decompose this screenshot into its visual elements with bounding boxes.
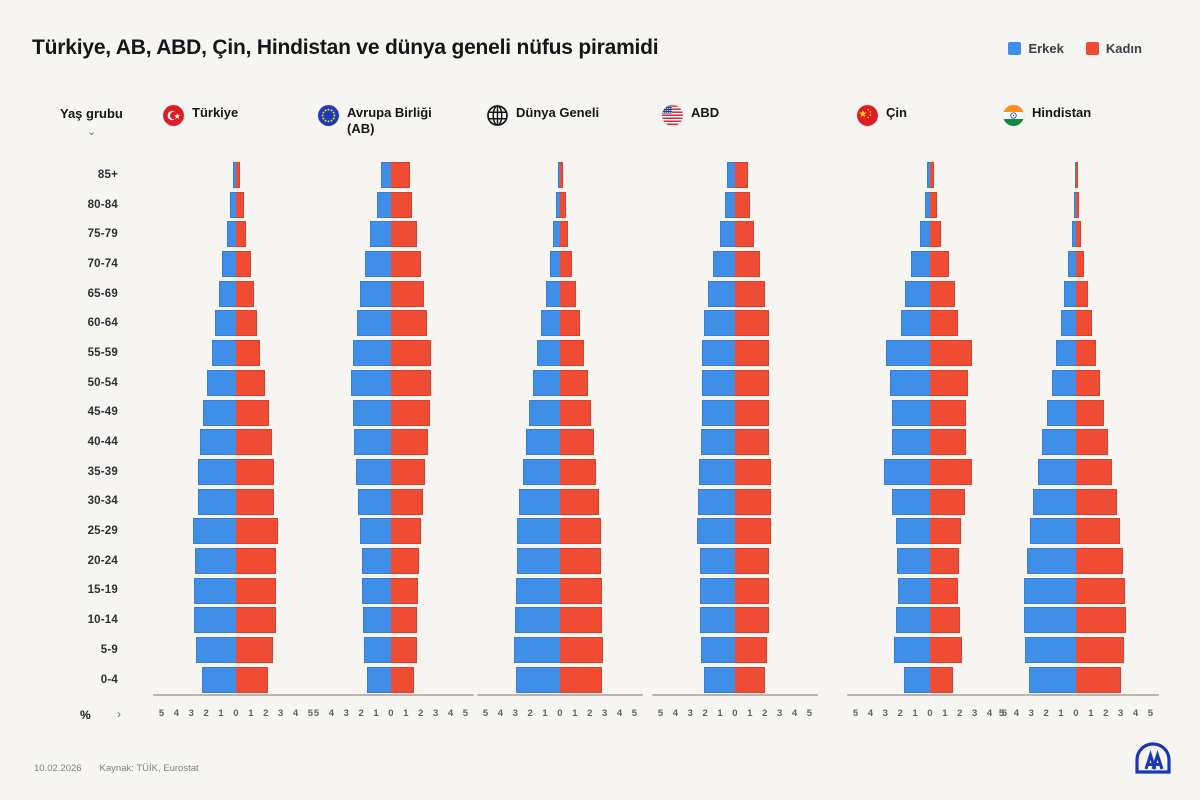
- bar-male[interactable]: [367, 667, 391, 693]
- pyramid-row[interactable]: [845, 368, 1015, 398]
- bar-female[interactable]: [236, 192, 244, 218]
- bar-female[interactable]: [560, 340, 584, 366]
- bar-male[interactable]: [516, 578, 560, 604]
- bar-female[interactable]: [560, 429, 594, 455]
- column-header-d-nya-geneli[interactable]: Dünya Geneli: [487, 105, 599, 126]
- bar-male[interactable]: [212, 340, 236, 366]
- bar-female[interactable]: [391, 310, 427, 336]
- bar-female[interactable]: [735, 578, 769, 604]
- pyramid-row[interactable]: [151, 457, 321, 487]
- bar-female[interactable]: [391, 251, 421, 277]
- bar-female[interactable]: [1076, 192, 1079, 218]
- bar-male[interactable]: [1030, 518, 1076, 544]
- bar-female[interactable]: [560, 162, 563, 188]
- pyramid-row[interactable]: [845, 516, 1015, 546]
- bar-female[interactable]: [391, 429, 428, 455]
- bar-female[interactable]: [236, 400, 269, 426]
- bar-female[interactable]: [930, 429, 966, 455]
- bar-female[interactable]: [391, 637, 417, 663]
- bar-male[interactable]: [362, 548, 391, 574]
- bar-male[interactable]: [517, 548, 560, 574]
- pyramid-row[interactable]: [991, 190, 1161, 220]
- pyramid-row[interactable]: [306, 219, 476, 249]
- bar-male[interactable]: [370, 221, 391, 247]
- pyramid-row[interactable]: [845, 308, 1015, 338]
- pyramid-row[interactable]: [650, 308, 820, 338]
- bar-male[interactable]: [699, 459, 735, 485]
- pyramid-row[interactable]: [306, 427, 476, 457]
- age-group-column-header[interactable]: Yaş grubu ⌄: [60, 106, 123, 138]
- pyramid-row[interactable]: [151, 219, 321, 249]
- bar-female[interactable]: [1076, 221, 1081, 247]
- pyramid-row[interactable]: [650, 398, 820, 428]
- bar-male[interactable]: [516, 667, 560, 693]
- pyramid-row[interactable]: [151, 487, 321, 517]
- pyramid-row[interactable]: [306, 368, 476, 398]
- bar-female[interactable]: [735, 400, 769, 426]
- pyramid-row[interactable]: [845, 338, 1015, 368]
- pyramid-row[interactable]: [991, 249, 1161, 279]
- pyramid-row[interactable]: [475, 190, 645, 220]
- bar-female[interactable]: [560, 578, 602, 604]
- bar-female[interactable]: [1076, 667, 1121, 693]
- bar-male[interactable]: [698, 489, 735, 515]
- pyramid-row[interactable]: [991, 635, 1161, 665]
- pyramid-row[interactable]: [151, 576, 321, 606]
- bar-male[interactable]: [1042, 429, 1076, 455]
- bar-male[interactable]: [697, 518, 735, 544]
- pyramid-row[interactable]: [991, 576, 1161, 606]
- pyramid-row[interactable]: [650, 576, 820, 606]
- pyramid-row[interactable]: [151, 516, 321, 546]
- pyramid-row[interactable]: [991, 368, 1161, 398]
- bar-male[interactable]: [360, 518, 391, 544]
- pyramid-row[interactable]: [650, 190, 820, 220]
- bar-male[interactable]: [198, 459, 237, 485]
- bar-male[interactable]: [892, 429, 931, 455]
- pyramid-row[interactable]: [151, 398, 321, 428]
- pyramid-row[interactable]: [991, 219, 1161, 249]
- bar-female[interactable]: [560, 518, 601, 544]
- bar-female[interactable]: [236, 548, 276, 574]
- bar-male[interactable]: [356, 459, 391, 485]
- bar-male[interactable]: [896, 518, 930, 544]
- bar-female[interactable]: [930, 637, 962, 663]
- bar-female[interactable]: [391, 370, 431, 396]
- pyramid-row[interactable]: [151, 338, 321, 368]
- bar-male[interactable]: [1056, 340, 1076, 366]
- bar-male[interactable]: [222, 251, 236, 277]
- bar-female[interactable]: [930, 192, 937, 218]
- bar-male[interactable]: [1029, 667, 1076, 693]
- bar-male[interactable]: [700, 578, 735, 604]
- bar-female[interactable]: [735, 370, 769, 396]
- pyramid-row[interactable]: [845, 219, 1015, 249]
- bar-female[interactable]: [236, 221, 246, 247]
- bar-male[interactable]: [702, 400, 735, 426]
- bar-male[interactable]: [526, 429, 560, 455]
- bar-male[interactable]: [892, 400, 931, 426]
- bar-female[interactable]: [1076, 370, 1100, 396]
- bar-male[interactable]: [708, 281, 736, 307]
- bar-female[interactable]: [735, 221, 754, 247]
- bar-female[interactable]: [930, 281, 955, 307]
- bar-male[interactable]: [1027, 548, 1077, 574]
- bar-male[interactable]: [550, 251, 560, 277]
- pyramid-row[interactable]: [845, 457, 1015, 487]
- pyramid-row[interactable]: [475, 160, 645, 190]
- bar-male[interactable]: [363, 607, 391, 633]
- bar-female[interactable]: [1076, 459, 1112, 485]
- bar-female[interactable]: [1076, 578, 1125, 604]
- pyramid-row[interactable]: [845, 487, 1015, 517]
- bar-female[interactable]: [560, 459, 596, 485]
- bar-female[interactable]: [560, 370, 588, 396]
- bar-male[interactable]: [207, 370, 236, 396]
- bar-female[interactable]: [1076, 281, 1088, 307]
- bar-female[interactable]: [560, 489, 599, 515]
- bar-male[interactable]: [196, 637, 236, 663]
- chevron-right-icon[interactable]: ›: [117, 707, 121, 721]
- pyramid-row[interactable]: [845, 605, 1015, 635]
- bar-male[interactable]: [202, 667, 236, 693]
- pyramid-row[interactable]: [151, 605, 321, 635]
- bar-female[interactable]: [930, 518, 961, 544]
- bar-female[interactable]: [735, 162, 748, 188]
- bar-male[interactable]: [1047, 400, 1076, 426]
- bar-female[interactable]: [735, 637, 767, 663]
- pyramid-row[interactable]: [475, 487, 645, 517]
- bar-male[interactable]: [1024, 607, 1076, 633]
- bar-male[interactable]: [533, 370, 561, 396]
- bar-male[interactable]: [219, 281, 236, 307]
- column-header-in[interactable]: Çin: [857, 105, 907, 126]
- pyramid-row[interactable]: [306, 398, 476, 428]
- bar-male[interactable]: [515, 607, 560, 633]
- bar-male[interactable]: [713, 251, 735, 277]
- pyramid-row[interactable]: [306, 249, 476, 279]
- bar-female[interactable]: [1076, 637, 1124, 663]
- pyramid-row[interactable]: [151, 427, 321, 457]
- bar-male[interactable]: [194, 607, 236, 633]
- pyramid-row[interactable]: [845, 398, 1015, 428]
- bar-female[interactable]: [560, 281, 576, 307]
- bar-female[interactable]: [735, 310, 769, 336]
- pyramid-row[interactable]: [650, 605, 820, 635]
- bar-male[interactable]: [897, 548, 930, 574]
- bar-female[interactable]: [560, 607, 602, 633]
- pyramid-row[interactable]: [306, 160, 476, 190]
- pyramid-row[interactable]: [475, 546, 645, 576]
- pyramid-row[interactable]: [650, 219, 820, 249]
- bar-male[interactable]: [517, 518, 560, 544]
- pyramid-row[interactable]: [306, 308, 476, 338]
- bar-male[interactable]: [700, 548, 735, 574]
- pyramid-row[interactable]: [650, 457, 820, 487]
- pyramid-row[interactable]: [650, 487, 820, 517]
- bar-male[interactable]: [354, 429, 391, 455]
- pyramid-row[interactable]: [845, 665, 1015, 695]
- pyramid-row[interactable]: [845, 427, 1015, 457]
- bar-male[interactable]: [194, 578, 236, 604]
- pyramid-row[interactable]: [475, 457, 645, 487]
- bar-male[interactable]: [377, 192, 391, 218]
- bar-female[interactable]: [1076, 607, 1126, 633]
- bar-male[interactable]: [920, 221, 930, 247]
- pyramid-row[interactable]: [475, 249, 645, 279]
- bar-female[interactable]: [735, 607, 769, 633]
- bar-male[interactable]: [358, 489, 391, 515]
- bar-male[interactable]: [553, 221, 560, 247]
- bar-male[interactable]: [351, 370, 391, 396]
- bar-male[interactable]: [215, 310, 236, 336]
- bar-female[interactable]: [735, 251, 760, 277]
- bar-female[interactable]: [930, 310, 958, 336]
- bar-female[interactable]: [930, 400, 966, 426]
- pyramid-row[interactable]: [306, 279, 476, 309]
- bar-male[interactable]: [905, 281, 930, 307]
- bar-female[interactable]: [236, 667, 268, 693]
- bar-male[interactable]: [704, 667, 735, 693]
- bar-female[interactable]: [236, 429, 272, 455]
- pyramid-row[interactable]: [151, 635, 321, 665]
- bar-male[interactable]: [896, 607, 930, 633]
- bar-female[interactable]: [560, 637, 603, 663]
- bar-female[interactable]: [560, 667, 602, 693]
- bar-male[interactable]: [193, 518, 236, 544]
- bar-female[interactable]: [236, 370, 265, 396]
- bar-male[interactable]: [1033, 489, 1076, 515]
- bar-female[interactable]: [1076, 162, 1078, 188]
- bar-female[interactable]: [236, 340, 260, 366]
- bar-female[interactable]: [735, 548, 769, 574]
- pyramid-row[interactable]: [991, 338, 1161, 368]
- bar-male[interactable]: [701, 637, 735, 663]
- bar-female[interactable]: [391, 578, 418, 604]
- pyramid-row[interactable]: [845, 160, 1015, 190]
- bar-female[interactable]: [735, 518, 771, 544]
- pyramid-row[interactable]: [991, 427, 1161, 457]
- bar-male[interactable]: [203, 400, 236, 426]
- pyramid-row[interactable]: [475, 398, 645, 428]
- bar-female[interactable]: [236, 489, 274, 515]
- bar-male[interactable]: [904, 667, 930, 693]
- pyramid-row[interactable]: [650, 160, 820, 190]
- pyramid-row[interactable]: [151, 249, 321, 279]
- bar-male[interactable]: [901, 310, 930, 336]
- bar-female[interactable]: [735, 429, 769, 455]
- bar-male[interactable]: [519, 489, 560, 515]
- bar-male[interactable]: [1024, 578, 1076, 604]
- bar-female[interactable]: [391, 459, 425, 485]
- bar-male[interactable]: [701, 429, 735, 455]
- bar-female[interactable]: [391, 340, 431, 366]
- pyramid-row[interactable]: [991, 457, 1161, 487]
- pyramid-row[interactable]: [151, 308, 321, 338]
- bar-male[interactable]: [362, 578, 391, 604]
- pyramid-row[interactable]: [151, 279, 321, 309]
- pyramid-row[interactable]: [151, 160, 321, 190]
- bar-female[interactable]: [1076, 429, 1108, 455]
- bar-female[interactable]: [930, 370, 968, 396]
- pyramid-row[interactable]: [991, 279, 1161, 309]
- column-header-avrupa-birli-i-ab[interactable]: Avrupa Birliği(AB): [318, 105, 432, 138]
- pyramid-row[interactable]: [650, 635, 820, 665]
- bar-female[interactable]: [236, 607, 276, 633]
- pyramid-row[interactable]: [845, 249, 1015, 279]
- bar-female[interactable]: [930, 667, 953, 693]
- pyramid-row[interactable]: [151, 665, 321, 695]
- bar-female[interactable]: [236, 637, 273, 663]
- bar-male[interactable]: [1038, 459, 1077, 485]
- bar-male[interactable]: [353, 400, 392, 426]
- pyramid-row[interactable]: [991, 665, 1161, 695]
- bar-male[interactable]: [892, 489, 931, 515]
- bar-female[interactable]: [391, 548, 419, 574]
- bar-male[interactable]: [200, 429, 236, 455]
- bar-female[interactable]: [236, 459, 274, 485]
- pyramid-row[interactable]: [991, 546, 1161, 576]
- pyramid-row[interactable]: [845, 576, 1015, 606]
- pyramid-row[interactable]: [475, 576, 645, 606]
- bar-female[interactable]: [735, 192, 750, 218]
- pyramid-row[interactable]: [845, 635, 1015, 665]
- pyramid-row[interactable]: [306, 190, 476, 220]
- bar-female[interactable]: [930, 162, 934, 188]
- pyramid-row[interactable]: [991, 516, 1161, 546]
- bar-female[interactable]: [1076, 518, 1120, 544]
- bar-male[interactable]: [365, 251, 391, 277]
- pyramid-row[interactable]: [151, 546, 321, 576]
- pyramid-row[interactable]: [650, 279, 820, 309]
- pyramid-row[interactable]: [475, 635, 645, 665]
- bar-male[interactable]: [702, 370, 735, 396]
- pyramid-row[interactable]: [475, 279, 645, 309]
- bar-male[interactable]: [381, 162, 391, 188]
- pyramid-row[interactable]: [991, 160, 1161, 190]
- bar-male[interactable]: [1052, 370, 1076, 396]
- pyramid-row[interactable]: [475, 308, 645, 338]
- bar-female[interactable]: [930, 221, 941, 247]
- bar-male[interactable]: [700, 607, 735, 633]
- bar-female[interactable]: [1076, 548, 1123, 574]
- bar-male[interactable]: [911, 251, 930, 277]
- bar-female[interactable]: [236, 251, 251, 277]
- bar-female[interactable]: [735, 667, 765, 693]
- bar-female[interactable]: [1076, 340, 1096, 366]
- bar-female[interactable]: [560, 251, 572, 277]
- pyramid-row[interactable]: [306, 546, 476, 576]
- bar-female[interactable]: [930, 489, 965, 515]
- bar-male[interactable]: [357, 310, 391, 336]
- bar-female[interactable]: [236, 281, 254, 307]
- bar-female[interactable]: [391, 518, 421, 544]
- bar-male[interactable]: [1068, 251, 1076, 277]
- bar-male[interactable]: [1064, 281, 1076, 307]
- bar-female[interactable]: [735, 281, 765, 307]
- column-header-abd[interactable]: ABD: [662, 105, 719, 126]
- bar-female[interactable]: [735, 459, 771, 485]
- pyramid-row[interactable]: [845, 190, 1015, 220]
- bar-female[interactable]: [391, 667, 414, 693]
- pyramid-row[interactable]: [306, 576, 476, 606]
- bar-male[interactable]: [704, 310, 735, 336]
- pyramid-row[interactable]: [991, 487, 1161, 517]
- pyramid-row[interactable]: [845, 546, 1015, 576]
- bar-female[interactable]: [391, 192, 412, 218]
- bar-male[interactable]: [364, 637, 392, 663]
- pyramid-row[interactable]: [650, 665, 820, 695]
- pyramid-row[interactable]: [991, 308, 1161, 338]
- bar-male[interactable]: [1061, 310, 1076, 336]
- pyramid-row[interactable]: [650, 427, 820, 457]
- bar-female[interactable]: [1076, 310, 1092, 336]
- bar-female[interactable]: [391, 607, 417, 633]
- bar-male[interactable]: [227, 221, 236, 247]
- pyramid-row[interactable]: [475, 338, 645, 368]
- pyramid-row[interactable]: [475, 605, 645, 635]
- pyramid-row[interactable]: [650, 516, 820, 546]
- bar-female[interactable]: [236, 578, 276, 604]
- bar-female[interactable]: [236, 162, 240, 188]
- bar-female[interactable]: [1076, 400, 1104, 426]
- bar-male[interactable]: [514, 637, 560, 663]
- bar-male[interactable]: [702, 340, 735, 366]
- bar-female[interactable]: [735, 489, 771, 515]
- pyramid-row[interactable]: [306, 487, 476, 517]
- bar-male[interactable]: [898, 578, 930, 604]
- bar-female[interactable]: [391, 221, 417, 247]
- bar-female[interactable]: [391, 281, 424, 307]
- bar-male[interactable]: [529, 400, 560, 426]
- pyramid-row[interactable]: [650, 338, 820, 368]
- bar-female[interactable]: [560, 400, 591, 426]
- bar-female[interactable]: [560, 192, 566, 218]
- pyramid-row[interactable]: [306, 665, 476, 695]
- bar-female[interactable]: [930, 251, 949, 277]
- bar-male[interactable]: [537, 340, 560, 366]
- bar-male[interactable]: [546, 281, 560, 307]
- bar-male[interactable]: [541, 310, 560, 336]
- pyramid-row[interactable]: [845, 279, 1015, 309]
- bar-female[interactable]: [930, 459, 972, 485]
- bar-female[interactable]: [391, 400, 430, 426]
- column-header-hindistan[interactable]: Hindistan: [1003, 105, 1091, 126]
- bar-male[interactable]: [198, 489, 237, 515]
- bar-female[interactable]: [1076, 489, 1117, 515]
- pyramid-row[interactable]: [991, 605, 1161, 635]
- bar-female[interactable]: [560, 310, 580, 336]
- pyramid-row[interactable]: [475, 219, 645, 249]
- pyramid-row[interactable]: [306, 338, 476, 368]
- bar-female[interactable]: [930, 548, 959, 574]
- bar-female[interactable]: [930, 607, 960, 633]
- bar-male[interactable]: [1025, 637, 1076, 663]
- pyramid-row[interactable]: [151, 190, 321, 220]
- bar-male[interactable]: [360, 281, 391, 307]
- bar-female[interactable]: [391, 162, 410, 188]
- pyramid-row[interactable]: [475, 516, 645, 546]
- bar-male[interactable]: [886, 340, 930, 366]
- bar-male[interactable]: [353, 340, 392, 366]
- pyramid-row[interactable]: [306, 516, 476, 546]
- pyramid-row[interactable]: [306, 457, 476, 487]
- bar-female[interactable]: [1076, 251, 1084, 277]
- bar-female[interactable]: [735, 340, 769, 366]
- bar-female[interactable]: [236, 310, 257, 336]
- bar-male[interactable]: [890, 370, 930, 396]
- bar-male[interactable]: [725, 192, 735, 218]
